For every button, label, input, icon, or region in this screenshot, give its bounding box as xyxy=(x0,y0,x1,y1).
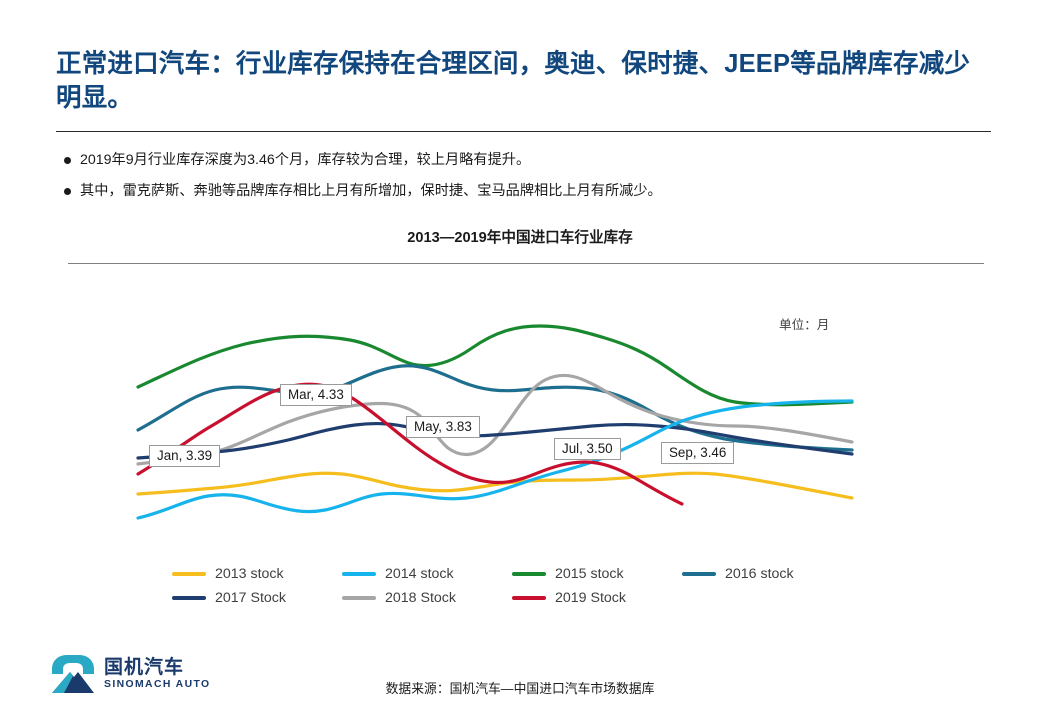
bullet-dot-icon xyxy=(64,188,71,195)
legend-item-2013: 2013 stock xyxy=(172,566,342,582)
legend-item-2014: 2014 stock xyxy=(342,566,512,582)
bullet-text: 2019年9月行业库存深度为3.46个月，库存较为合理，较上月略有提升。 xyxy=(80,150,530,171)
legend-item-2018: 2018 Stock xyxy=(342,590,512,606)
annotation-mar: Mar, 4.33 xyxy=(280,384,352,406)
list-item: 其中，雷克萨斯、奔驰等品牌库存相比上月有所增加，保时捷、宝马品牌相比上月有所减少… xyxy=(64,181,964,202)
list-item: 2019年9月行业库存深度为3.46个月，库存较为合理，较上月略有提升。 xyxy=(64,150,964,171)
slide-root: 正常进口汽车：行业库存保持在合理区间，奥迪、保时捷、JEEP等品牌库存减少明显。… xyxy=(0,0,1040,720)
legend-label: 2017 Stock xyxy=(215,590,286,606)
title-block: 正常进口汽车：行业库存保持在合理区间，奥迪、保时捷、JEEP等品牌库存减少明显。 xyxy=(56,48,991,116)
bullet-text: 其中，雷克萨斯、奔驰等品牌库存相比上月有所增加，保时捷、宝马品牌相比上月有所减少… xyxy=(80,181,662,202)
annotation-jan: Jan, 3.39 xyxy=(149,445,220,467)
source-note: 数据来源：国机汽车—中国进口汽车市场数据库 xyxy=(0,678,1040,697)
line-chart xyxy=(0,282,1040,542)
page-title: 正常进口汽车：行业库存保持在合理区间，奥迪、保时捷、JEEP等品牌库存减少明显。 xyxy=(56,48,991,116)
chart-divider xyxy=(68,263,984,264)
legend-label: 2016 stock xyxy=(725,566,794,582)
series-line-2013 xyxy=(138,473,852,498)
chart-legend: 2013 stock 2014 stock 2015 stock 2016 st… xyxy=(172,566,872,614)
legend-row-2: 2017 Stock 2018 Stock 2019 Stock xyxy=(172,590,872,606)
legend-label: 2018 Stock xyxy=(385,590,456,606)
legend-label: 2015 stock xyxy=(555,566,624,582)
legend-label: 2013 stock xyxy=(215,566,284,582)
legend-swatch-icon xyxy=(342,596,376,600)
legend-swatch-icon xyxy=(512,572,546,576)
bullet-dot-icon xyxy=(64,157,71,164)
annotation-sep: Sep, 3.46 xyxy=(661,442,734,464)
annotation-may: May, 3.83 xyxy=(406,416,480,438)
legend-swatch-icon xyxy=(512,596,546,600)
title-divider xyxy=(56,131,991,132)
legend-swatch-icon xyxy=(682,572,716,576)
legend-swatch-icon xyxy=(172,596,206,600)
bullet-list: 2019年9月行业库存深度为3.46个月，库存较为合理，较上月略有提升。 其中，… xyxy=(64,150,964,211)
legend-item-2017: 2017 Stock xyxy=(172,590,342,606)
legend-item-2016: 2016 stock xyxy=(682,566,852,582)
legend-swatch-icon xyxy=(172,572,206,576)
legend-swatch-icon xyxy=(342,572,376,576)
legend-item-2019: 2019 Stock xyxy=(512,590,682,606)
chart-title: 2013—2019年中国进口车行业库存 xyxy=(0,226,1040,247)
legend-item-2015: 2015 stock xyxy=(512,566,682,582)
legend-label: 2019 Stock xyxy=(555,590,626,606)
series-line-2014 xyxy=(138,401,852,518)
legend-label: 2014 stock xyxy=(385,566,454,582)
logo-name-cn: 国机汽车 xyxy=(104,658,211,678)
legend-row-1: 2013 stock 2014 stock 2015 stock 2016 st… xyxy=(172,566,872,582)
annotation-jul: Jul, 3.50 xyxy=(554,438,621,460)
series-line-2015 xyxy=(138,326,852,405)
